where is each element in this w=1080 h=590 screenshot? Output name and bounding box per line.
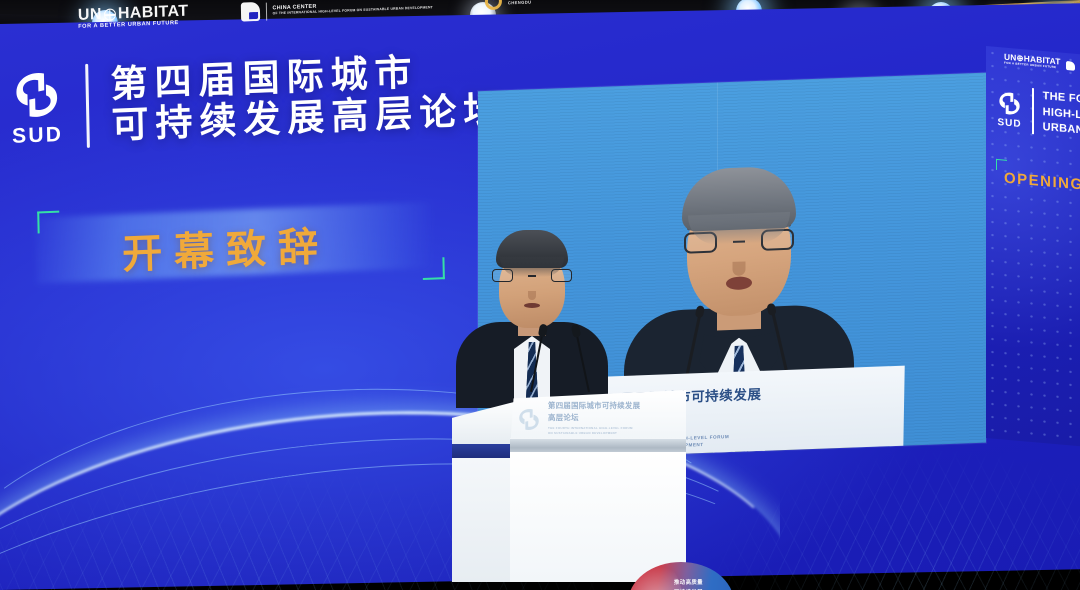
lectern: 第四届国际城市可持续发展 高层论坛 THE FOURTH INTERNATION… xyxy=(452,392,684,590)
sud-s-logo-icon xyxy=(516,404,542,435)
unhabitat-un: UN xyxy=(78,8,102,24)
corner-bracket-icon xyxy=(37,211,59,234)
sud-brand: SUD xyxy=(9,67,65,149)
sud-s-logo-icon xyxy=(9,67,64,123)
emblem-cn1: 推动高质量 xyxy=(674,578,715,588)
globe-icon xyxy=(104,9,116,21)
sud-brand-name: SUD xyxy=(12,123,63,149)
chengdu-logo: 成都 CHENGDU xyxy=(485,0,532,10)
un-habitat-logo: UN HABITAT FOR A BETTER URBAN FUTURE xyxy=(78,5,189,30)
china-center-mark-icon xyxy=(240,2,259,22)
session-title: 开幕致辞 xyxy=(121,214,330,280)
right-sud-brand-name: SUD xyxy=(997,117,1021,130)
right-title-divider xyxy=(1032,88,1034,134)
right-led-screen: UN⊕HABITAT FOR A BETTER URBAN FUTURE SUD… xyxy=(986,46,1080,446)
corner-bracket-icon xyxy=(996,159,1007,171)
chengdu-ring-icon xyxy=(485,0,502,10)
divider xyxy=(265,2,266,20)
lectern-sign-cn2: 高层论坛 xyxy=(548,412,680,423)
lectern-sign-cn1: 第四届国际城市可持续发展 xyxy=(548,400,680,411)
title-divider xyxy=(85,64,90,148)
forum-title-lockup: SUD 第四届国际城市 可持续发展高层论坛 xyxy=(9,47,508,151)
lectern-body-left xyxy=(452,458,510,582)
lectern-sign: 第四届国际城市可持续发展 高层论坛 THE FOURTH INTERNATION… xyxy=(518,400,680,435)
session-title-band: 开幕致辞 xyxy=(29,187,451,300)
sud-s-logo-icon xyxy=(996,89,1023,118)
lectern-body: 推动高质量 可持续发展 建设开放共享的 未来之城 PROMOTING HIGH-… xyxy=(510,452,686,582)
right-china-center-mark-icon xyxy=(1066,61,1075,71)
corner-bracket-icon xyxy=(422,257,444,280)
conference-photo: UN HABITAT FOR A BETTER URBAN FUTURE CHI… xyxy=(0,0,1080,590)
china-center-logo: CHINA CENTER OF THE INTERNATIONAL HIGH-L… xyxy=(240,0,433,22)
partner-logo-strip: UN HABITAT FOR A BETTER URBAN FUTURE CHI… xyxy=(78,0,532,30)
lectern-top-left xyxy=(452,402,514,446)
lectern-sign-en2: ON SUSTAINABLE URBAN DEVELOPMENT xyxy=(548,431,680,436)
chengdu-en: CHENGDU xyxy=(508,1,532,6)
